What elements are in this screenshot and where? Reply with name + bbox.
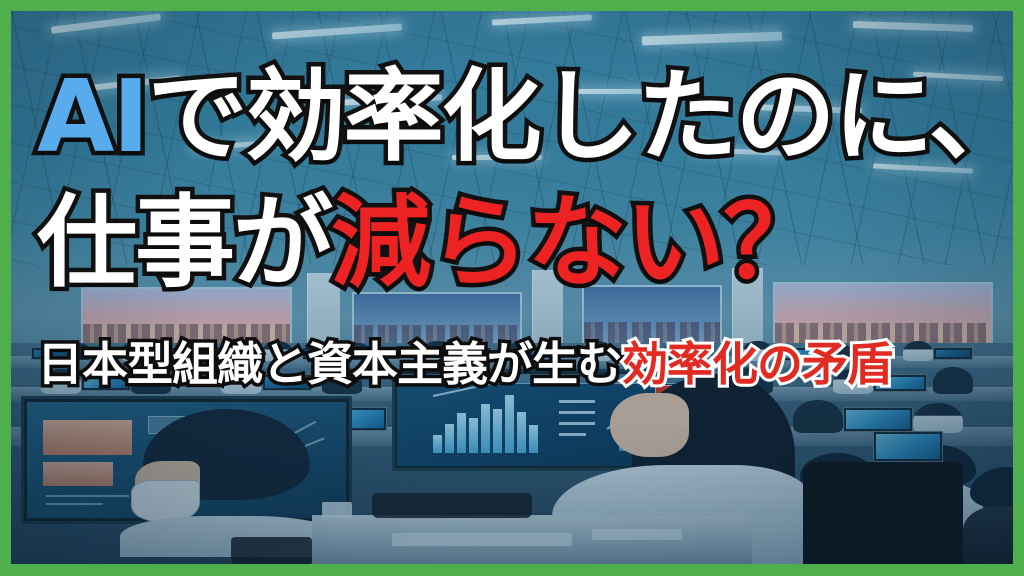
headline-line1-rest: で効率化したのに、 [148, 58, 1013, 175]
text-overlay: AIで効率化したのに、 仕事が減らない？ 日本型組織と資本主義が生む効率化の矛盾 [11, 11, 1013, 564]
headline-line2-red: 減らない？ [331, 184, 821, 301]
thumbnail-frame: AIで効率化したのに、 仕事が減らない？ 日本型組織と資本主義が生む効率化の矛盾 [0, 0, 1024, 576]
headline-line-1: AIで効率化したのに、 [11, 67, 1013, 167]
subtitle-white-part: 日本型組織と資本主義が生む [37, 337, 622, 391]
subtitle-line: 日本型組織と資本主義が生む効率化の矛盾 [11, 341, 1013, 387]
subtitle-red-part: 効率化の矛盾 [622, 337, 892, 391]
headline-ai-token: AI [37, 58, 148, 175]
thumbnail-stage: AIで効率化したのに、 仕事が減らない？ 日本型組織と資本主義が生む効率化の矛盾 [11, 11, 1013, 564]
headline-line-2: 仕事が減らない？ [11, 193, 1013, 293]
headline-line2-white: 仕事が [37, 184, 331, 301]
